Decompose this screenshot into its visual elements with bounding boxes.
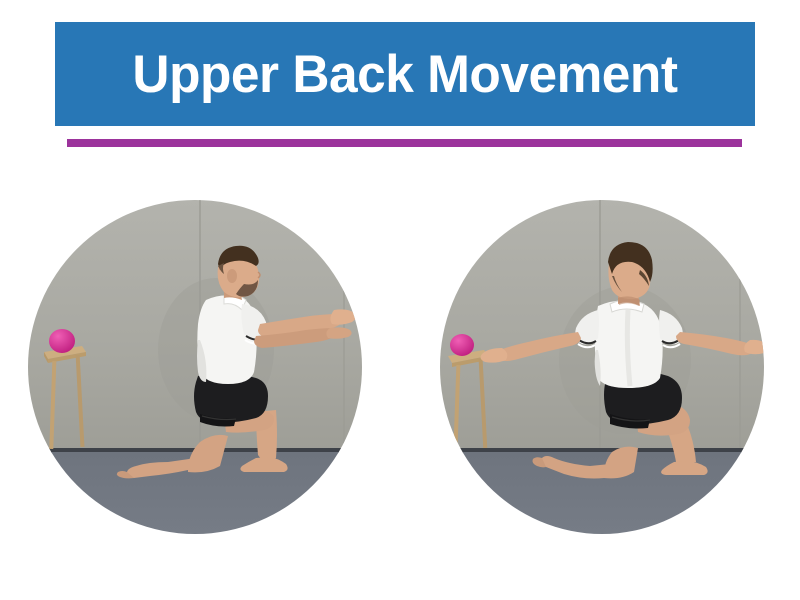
photo-scene-left [28,200,362,534]
page-title: Upper Back Movement [132,48,677,101]
title-banner: Upper Back Movement [55,22,755,126]
pink-exercise-ball [450,334,474,356]
pink-exercise-ball [49,329,75,353]
accent-divider [67,139,742,147]
exercise-photo-wide-arms [440,200,764,534]
exercise-photo-front-reach [28,200,362,534]
photo-scene-right [440,200,764,534]
